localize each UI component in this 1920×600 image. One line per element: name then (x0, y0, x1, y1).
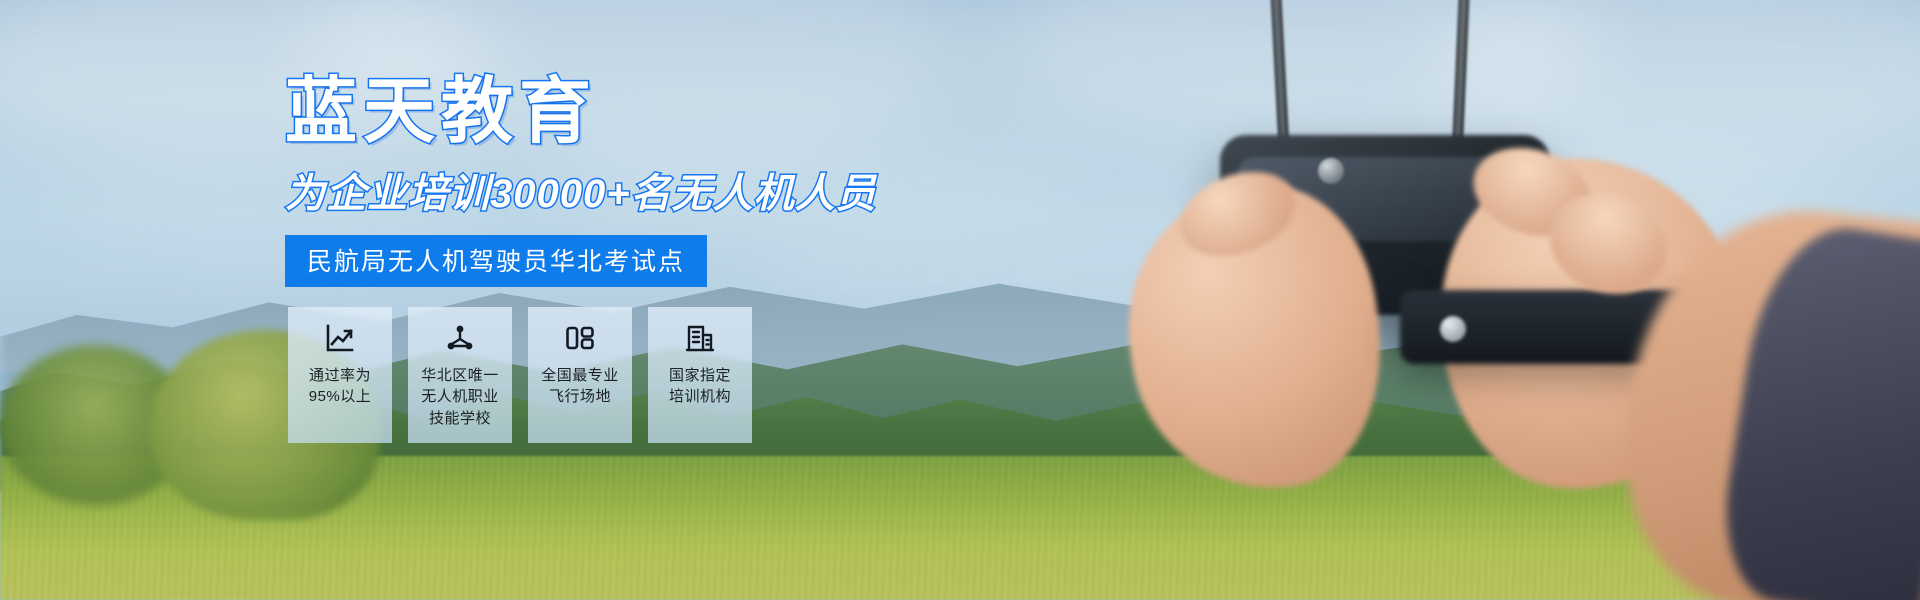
controller-knob (1440, 316, 1466, 342)
feature-card-label: 华北区唯一 无人机职业 技能学校 (421, 365, 499, 429)
hero-banner: 蓝天教育 为企业培训30000+名无人机人员 民航局无人机驾驶员华北考试点 通过… (0, 0, 1920, 600)
feature-line: 华北区唯一 (421, 365, 499, 386)
feature-card-airfield[interactable]: 全国最专业 飞行场地 (528, 307, 632, 443)
feature-card-label: 通过率为 95%以上 (309, 365, 372, 408)
feature-card-institution[interactable]: 国家指定 培训机构 (648, 307, 752, 443)
hero-subtitle: 为企业培训30000+名无人机人员 (285, 161, 1025, 219)
building-icon (683, 321, 717, 355)
feature-line: 国家指定 (669, 365, 731, 386)
feature-line: 通过率为 (309, 365, 372, 386)
status-badge: 民航局无人机驾驶员华北考试点 (285, 235, 707, 287)
panels-layout-icon (563, 321, 597, 355)
feature-card-label: 国家指定 培训机构 (669, 365, 731, 408)
feature-line: 飞行场地 (541, 386, 619, 407)
drone-controller-scene (1100, 0, 1920, 600)
feature-line: 培训机构 (669, 386, 731, 407)
network-nodes-icon (443, 321, 477, 355)
feature-line: 无人机职业 (421, 386, 499, 407)
control-stick (1318, 158, 1344, 184)
feature-card-pass-rate[interactable]: 通过率为 95%以上 (288, 307, 392, 443)
hero-text-block: 蓝天教育 为企业培训30000+名无人机人员 民航局无人机驾驶员华北考试点 (285, 75, 1025, 287)
feature-line: 全国最专业 (541, 365, 619, 386)
feature-card-label: 全国最专业 飞行场地 (541, 365, 619, 408)
feature-card-school[interactable]: 华北区唯一 无人机职业 技能学校 (408, 307, 512, 443)
feature-line: 技能学校 (421, 408, 499, 429)
trending-up-chart-icon (323, 321, 357, 355)
feature-card-list: 通过率为 95%以上 华北区唯一 无人机职业 技能学校 (288, 307, 752, 443)
feature-line: 95%以上 (309, 386, 372, 407)
page-title: 蓝天教育 (285, 75, 1025, 151)
